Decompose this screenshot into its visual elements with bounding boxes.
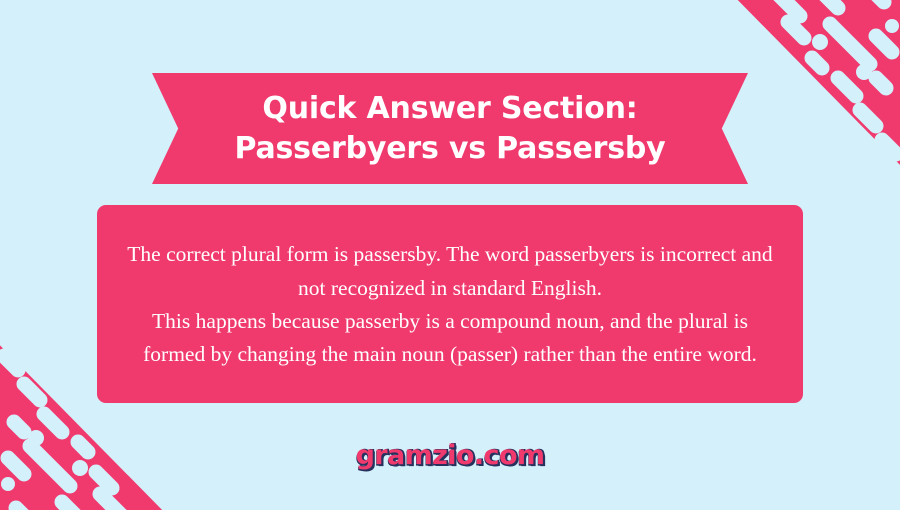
banner-title-line-2: Passerbyers vs Passersby <box>235 129 666 169</box>
answer-card: The correct plural form is passersby. Th… <box>97 205 803 403</box>
answer-paragraph-2: This happens because passerby is a compo… <box>119 305 781 372</box>
footer-logo-text[interactable]: gramzio.com <box>356 438 545 474</box>
banner-title: Quick Answer Section: Passerbyers vs Pas… <box>152 73 748 184</box>
infographic-canvas: Quick Answer Section: Passerbyers vs Pas… <box>0 0 900 510</box>
answer-paragraph-1: The correct plural form is passersby. Th… <box>119 238 781 305</box>
title-banner: Quick Answer Section: Passerbyers vs Pas… <box>152 73 748 184</box>
footer-logo[interactable]: gramzio.com <box>0 438 900 474</box>
banner-title-line-1: Quick Answer Section: <box>262 89 637 129</box>
